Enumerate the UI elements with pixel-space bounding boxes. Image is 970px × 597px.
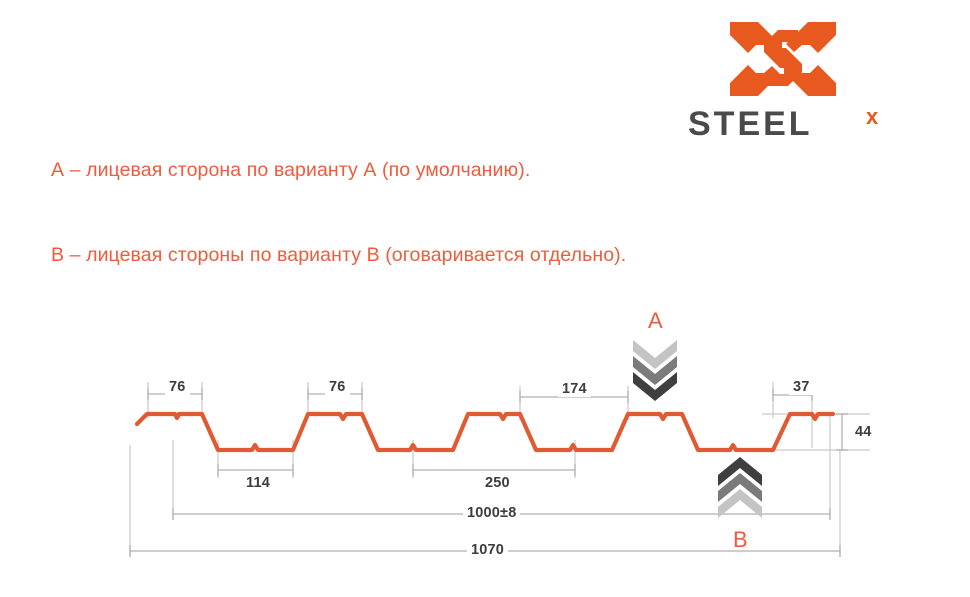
marker-a-chevrons <box>633 340 677 401</box>
dim-label-250: 250 <box>481 475 514 491</box>
dim-label-1070: 1070 <box>467 542 508 558</box>
marker-b-chevrons <box>718 457 762 518</box>
sheet-profile-outline <box>137 414 833 450</box>
dim-label-174: 174 <box>558 381 591 397</box>
dim-label-44: 44 <box>851 424 876 440</box>
dim-label-76-mid: 76 <box>325 379 350 395</box>
dim-label-76-left: 76 <box>165 379 190 395</box>
dim-label-37: 37 <box>789 379 814 395</box>
side-marker-label-b: В <box>733 527 748 553</box>
side-marker-label-a: А <box>648 308 663 334</box>
extension-lines <box>130 382 870 556</box>
dim-label-114: 114 <box>242 475 274 491</box>
dim-label-1000: 1000±8 <box>463 505 520 521</box>
